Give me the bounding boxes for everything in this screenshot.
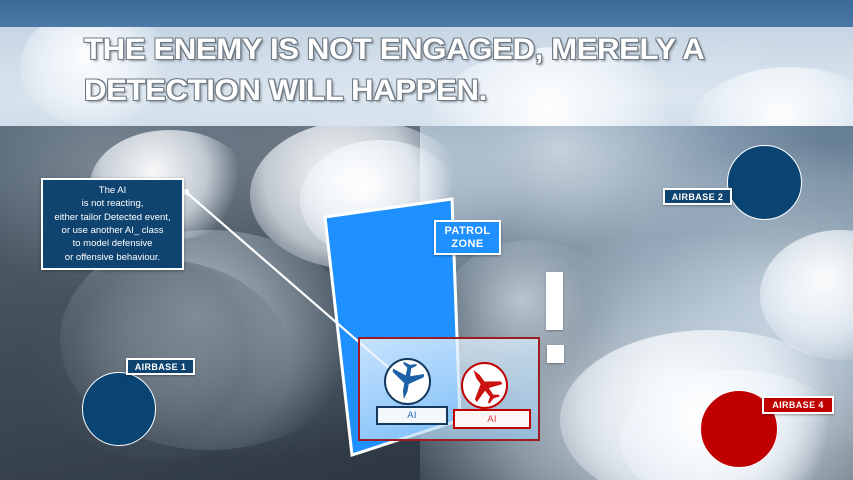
callout-line: to model defensive bbox=[73, 237, 153, 250]
friendly-jet-badge[interactable] bbox=[384, 358, 431, 405]
patrol-zone-label-line1: PATROL bbox=[445, 225, 491, 238]
airbase-1-marker[interactable] bbox=[82, 372, 156, 446]
ai-behaviour-callout: The AI is not reacting, either tailor De… bbox=[41, 178, 184, 270]
airbase-1-label: AIRBASE 1 bbox=[126, 358, 195, 375]
callout-line: is not reacting, bbox=[82, 197, 144, 210]
patrol-zone-label-line2: ZONE bbox=[451, 238, 483, 251]
airbase-4-label: AIRBASE 4 bbox=[762, 396, 834, 414]
callout-line: or offensive behaviour. bbox=[65, 251, 160, 264]
enemy-ai-chip[interactable]: AI bbox=[453, 409, 531, 429]
enemy-jet-badge[interactable] bbox=[461, 362, 508, 409]
fighter-jet-icon bbox=[386, 360, 428, 402]
callout-line: or use another AI_ class bbox=[62, 224, 164, 237]
patrol-zone-label: PATROL ZONE bbox=[434, 220, 501, 255]
callout-line: The AI bbox=[99, 184, 126, 197]
fighter-jet-icon bbox=[463, 364, 505, 406]
detection-panel: AI AI bbox=[358, 337, 540, 441]
exclamation-mark-icon bbox=[546, 272, 563, 330]
callout-line: either tailor Detected event, bbox=[54, 211, 170, 224]
friendly-ai-chip[interactable]: AI bbox=[376, 406, 448, 425]
exclamation-mark-icon bbox=[547, 345, 564, 363]
slide-canvas: THE ENEMY IS NOT ENGAGED, MERELY A DETEC… bbox=[0, 0, 853, 480]
airbase-2-marker[interactable] bbox=[727, 145, 802, 220]
airbase-2-label: AIRBASE 2 bbox=[663, 188, 732, 205]
